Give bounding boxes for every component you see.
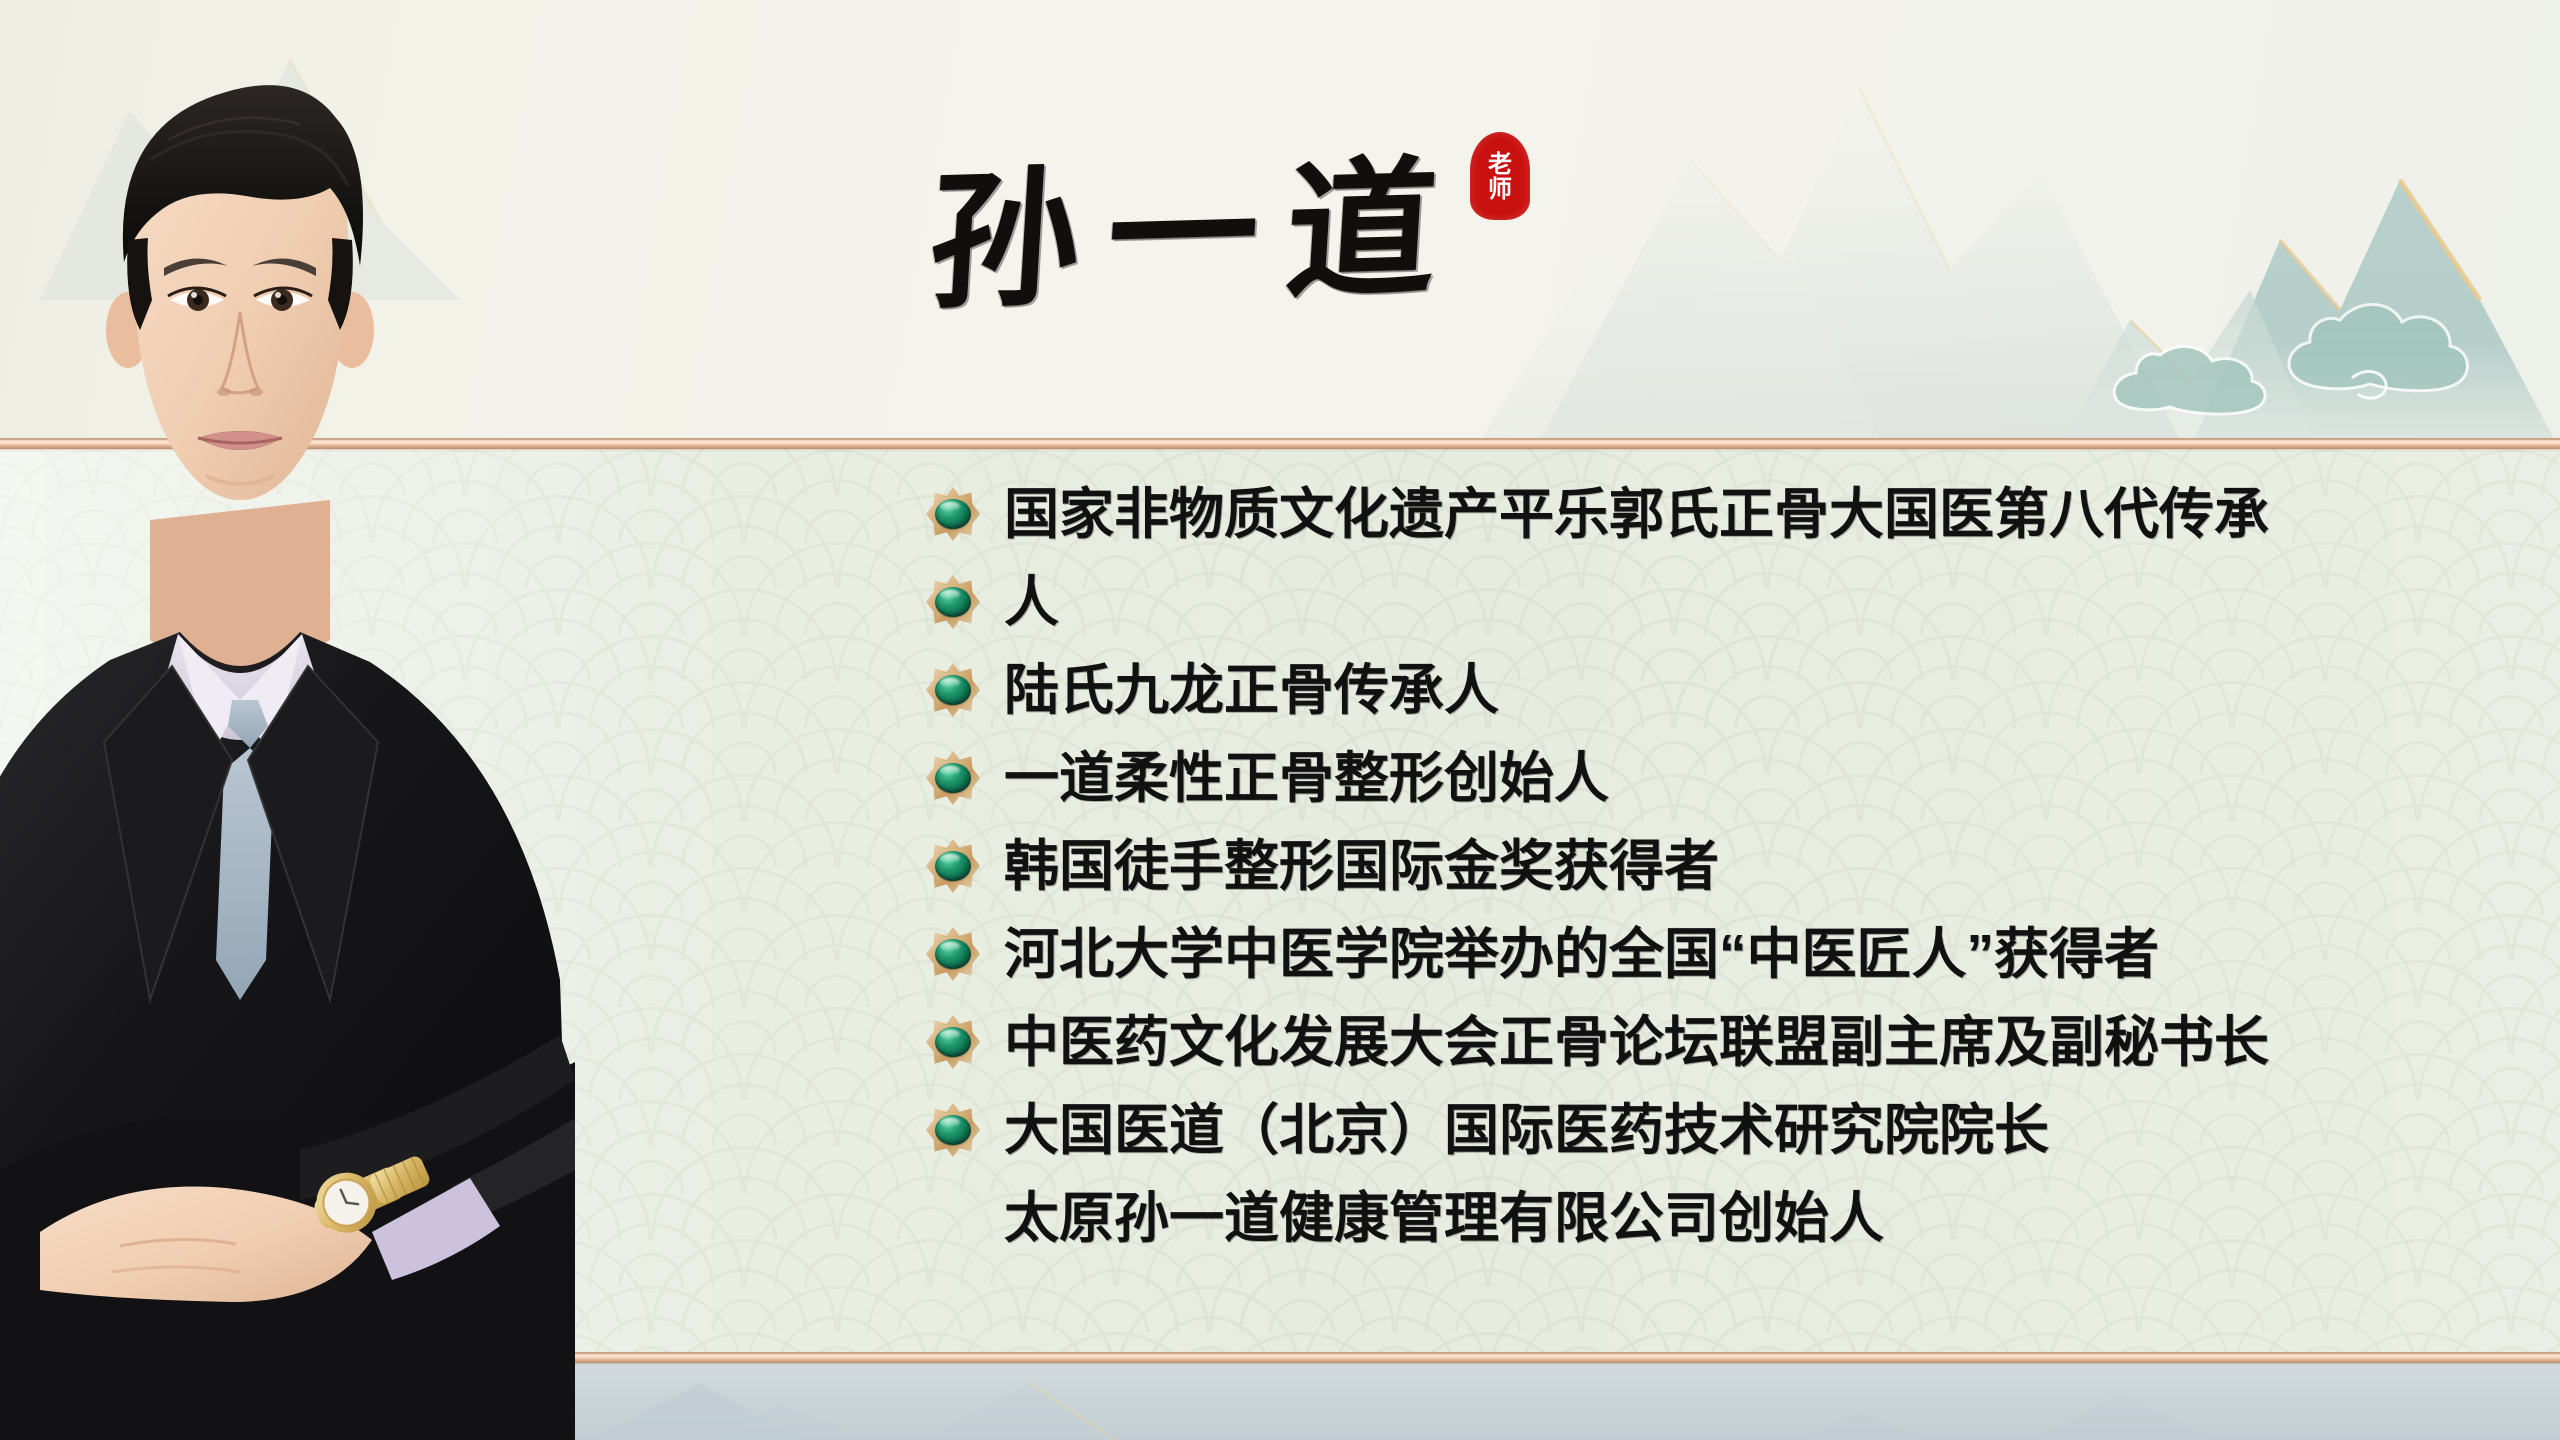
list-item: 大国医道（北京）国际医药技术研究院院长 [926,1086,2526,1174]
list-item-label: 中医药文化发展大会正骨论坛联盟副主席及副秘书长 [1004,1015,2269,1070]
list-item: 太原孙一道健康管理有限公司创始人 [926,1174,2526,1262]
credentials-list: 国家非物质文化遗产平乐郭氏正骨大国医第八代传承 人 陆氏九龙正骨传承人 一道柔性… [926,470,2526,1262]
seal-char-bottom: 师 [1488,176,1512,201]
gem-bullet-icon [926,839,980,893]
gem-bullet-icon [926,575,980,629]
list-item-label: 一道柔性正骨整形创始人 [1004,751,1609,806]
corner-mountain-cloud-motif [2040,120,2560,438]
list-item: 陆氏九龙正骨传承人 [926,646,2526,734]
gem-bullet-icon [926,1015,980,1069]
list-item-label: 韩国徒手整形国际金奖获得者 [1004,839,1719,894]
list-item: 河北大学中医学院举办的全国“中医匠人”获得者 [926,910,2526,998]
gem-bullet-icon [926,751,980,805]
gem-bullet-icon [926,1103,980,1157]
list-item: 一道柔性正骨整形创始人 [926,734,2526,822]
list-item-label: 大国医道（北京）国际医药技术研究院院长 [1004,1103,2049,1158]
gem-bullet-icon [926,927,980,981]
list-item-label: 国家非物质文化遗产平乐郭氏正骨大国医第八代传承 [1004,487,2269,542]
list-item: 人 [926,558,2526,646]
page-title: 孙一道 [925,153,1469,318]
portrait-photo [0,0,620,1440]
seal-char-top: 老 [1488,151,1512,176]
list-item: 中医药文化发展大会正骨论坛联盟副主席及副秘书长 [926,998,2526,1086]
list-item-label: 太原孙一道健康管理有限公司创始人 [1004,1191,1884,1246]
list-item-label: 河北大学中医学院举办的全国“中医匠人”获得者 [1004,927,2159,982]
gem-bullet-icon [926,487,980,541]
red-seal-stamp: 老 师 [1470,132,1530,220]
poster-root: 孙一道 老 师 国家非物质文化遗产平乐郭氏正骨大国医第八代传承 人 陆氏九龙正骨… [0,0,2560,1440]
list-item: 韩国徒手整形国际金奖获得者 [926,822,2526,910]
title-block: 孙一道 老 师 [930,160,1530,310]
list-item-label: 陆氏九龙正骨传承人 [1004,663,1499,718]
list-item: 国家非物质文化遗产平乐郭氏正骨大国医第八代传承 [926,470,2526,558]
gem-bullet-icon [926,663,980,717]
list-item-label: 人 [1004,575,1059,630]
